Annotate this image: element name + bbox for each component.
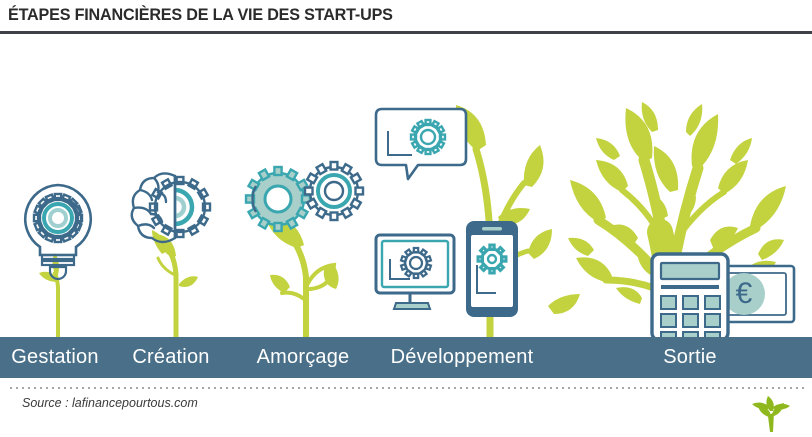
stage-label-creation: Création (112, 337, 230, 378)
footer-divider (8, 387, 804, 389)
brain-gear-icon (132, 173, 210, 242)
double-gear-icon (246, 162, 363, 231)
stage-label-band: Gestation Création Amorçage Développemen… (0, 337, 812, 378)
illustration-canvas: € (0, 34, 812, 337)
page-title: ÉTAPES FINANCIÈRES DE LA VIE DES START-U… (8, 5, 393, 25)
desktop-monitor-gear-icon (376, 235, 454, 309)
stage-label-developpement: Développement (376, 337, 548, 378)
lightbulb-gear-icon (25, 185, 90, 279)
title-bar: ÉTAPES FINANCIÈRES DE LA VIE DES START-U… (0, 0, 812, 32)
footer: Source : lafinancepourtous.com (0, 378, 812, 435)
stage-art-amorcage (238, 147, 373, 337)
tree-logo-icon (748, 396, 794, 432)
stage-art-developpement (372, 87, 557, 337)
three-leaf-plant-icon (266, 219, 339, 337)
two-leaf-sprout-icon (152, 230, 198, 337)
stage-label-gestation: Gestation (0, 337, 110, 378)
stage-art-creation (118, 162, 238, 337)
infographic-root: ÉTAPES FINANCIÈRES DE LA VIE DES START-U… (0, 0, 812, 435)
speech-bubble-gear-icon (376, 109, 466, 179)
stage-art-gestation (6, 177, 111, 337)
euro-symbol: € (736, 277, 753, 310)
stage-art-sortie: € (548, 42, 810, 337)
calculator-icon (652, 254, 728, 337)
stage-label-amorcage: Amorçage (236, 337, 370, 378)
source-text: Source : lafinancepourtous.com (22, 396, 198, 410)
smartphone-gear-icon (466, 221, 518, 317)
stage-label-sortie: Sortie (620, 337, 760, 378)
